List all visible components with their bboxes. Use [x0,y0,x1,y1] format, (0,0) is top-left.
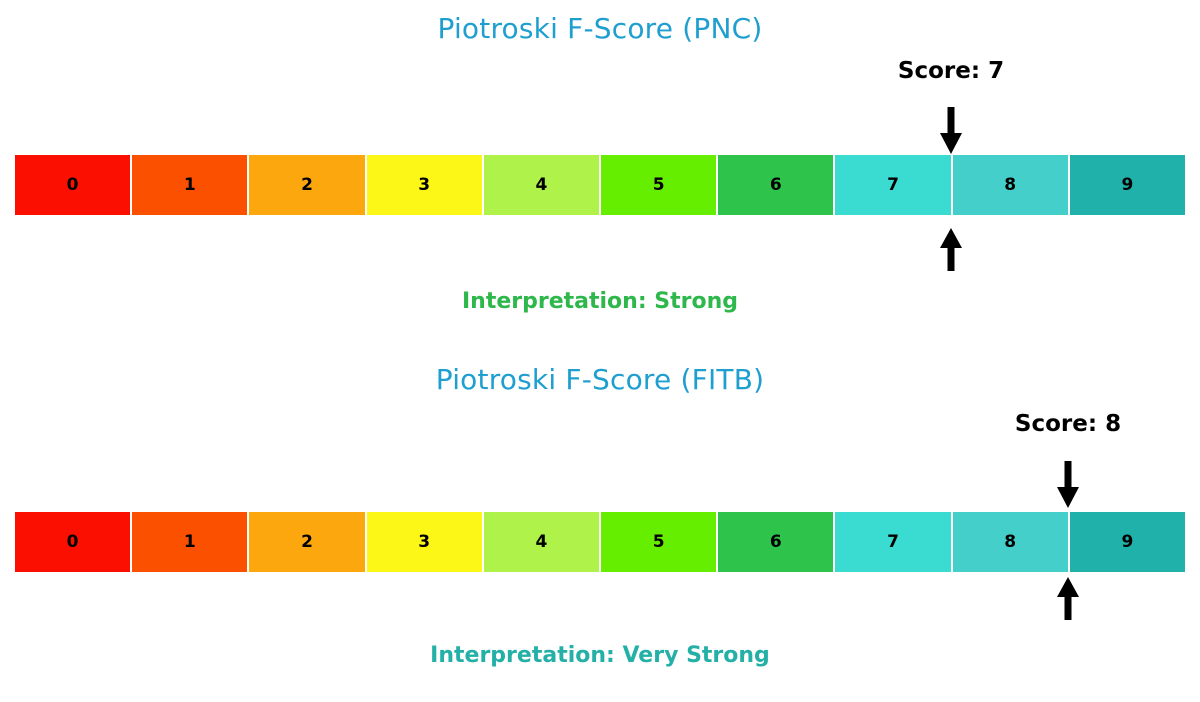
score-cell-label: 7 [887,534,899,551]
score-cell-label: 3 [418,534,430,551]
score-cell-label: 4 [535,534,547,551]
score-cell-label: 8 [1004,177,1016,194]
score-marker-arrow-down-pnc [936,107,966,155]
score-cell-9[interactable]: 9 [1069,512,1185,572]
score-cell-8[interactable]: 8 [952,155,1069,215]
score-cell-label: 0 [67,534,79,551]
score-label-fitb: Score: 8 [1015,411,1121,437]
score-cell-label: 7 [887,177,899,194]
score-cell-label: 3 [418,177,430,194]
score-cell-2[interactable]: 2 [248,155,365,215]
score-cell-label: 9 [1122,534,1134,551]
fscore-scale-bar-pnc: 0123456789 [15,155,1185,215]
score-cell-label: 8 [1004,534,1016,551]
score-cell-label: 1 [184,534,196,551]
score-cell-7[interactable]: 7 [834,155,951,215]
fscore-panel-pnc: Piotroski F-Score (PNC) Score: 7 0123456… [0,0,1200,351]
score-cell-label: 6 [770,534,782,551]
chart-title-fitb: Piotroski F-Score (FITB) [0,363,1200,396]
chart-title-pnc: Piotroski F-Score (PNC) [0,12,1200,45]
score-cell-3[interactable]: 3 [366,512,483,572]
score-marker-arrow-up-pnc [936,228,966,272]
score-cell-9[interactable]: 9 [1069,155,1185,215]
score-cell-label: 1 [184,177,196,194]
score-cell-4[interactable]: 4 [483,155,600,215]
score-cell-label: 5 [653,534,665,551]
score-cell-4[interactable]: 4 [483,512,600,572]
score-label-pnc: Score: 7 [898,58,1004,84]
interpretation-text-fitb: Interpretation: Very Strong [0,643,1200,668]
score-cell-5[interactable]: 5 [600,512,717,572]
fscore-panel-fitb: Piotroski F-Score (FITB) Score: 8 012345… [0,351,1200,702]
score-cell-1[interactable]: 1 [131,512,248,572]
score-cell-label: 9 [1122,177,1134,194]
score-cell-7[interactable]: 7 [834,512,951,572]
score-cell-label: 2 [301,177,313,194]
score-cell-label: 4 [535,177,547,194]
score-cell-6[interactable]: 6 [717,512,834,572]
score-cell-0[interactable]: 0 [15,512,131,572]
score-cell-label: 2 [301,534,313,551]
fscore-scale-bar-fitb: 0123456789 [15,512,1185,572]
score-cell-label: 6 [770,177,782,194]
score-cell-3[interactable]: 3 [366,155,483,215]
score-cell-5[interactable]: 5 [600,155,717,215]
score-cell-0[interactable]: 0 [15,155,131,215]
score-cell-label: 5 [653,177,665,194]
interpretation-text-pnc: Interpretation: Strong [0,289,1200,314]
score-cell-8[interactable]: 8 [952,512,1069,572]
score-marker-arrow-up-fitb [1053,577,1083,621]
score-marker-arrow-down-fitb [1053,461,1083,509]
score-cell-6[interactable]: 6 [717,155,834,215]
score-cell-label: 0 [67,177,79,194]
score-cell-1[interactable]: 1 [131,155,248,215]
score-cell-2[interactable]: 2 [248,512,365,572]
